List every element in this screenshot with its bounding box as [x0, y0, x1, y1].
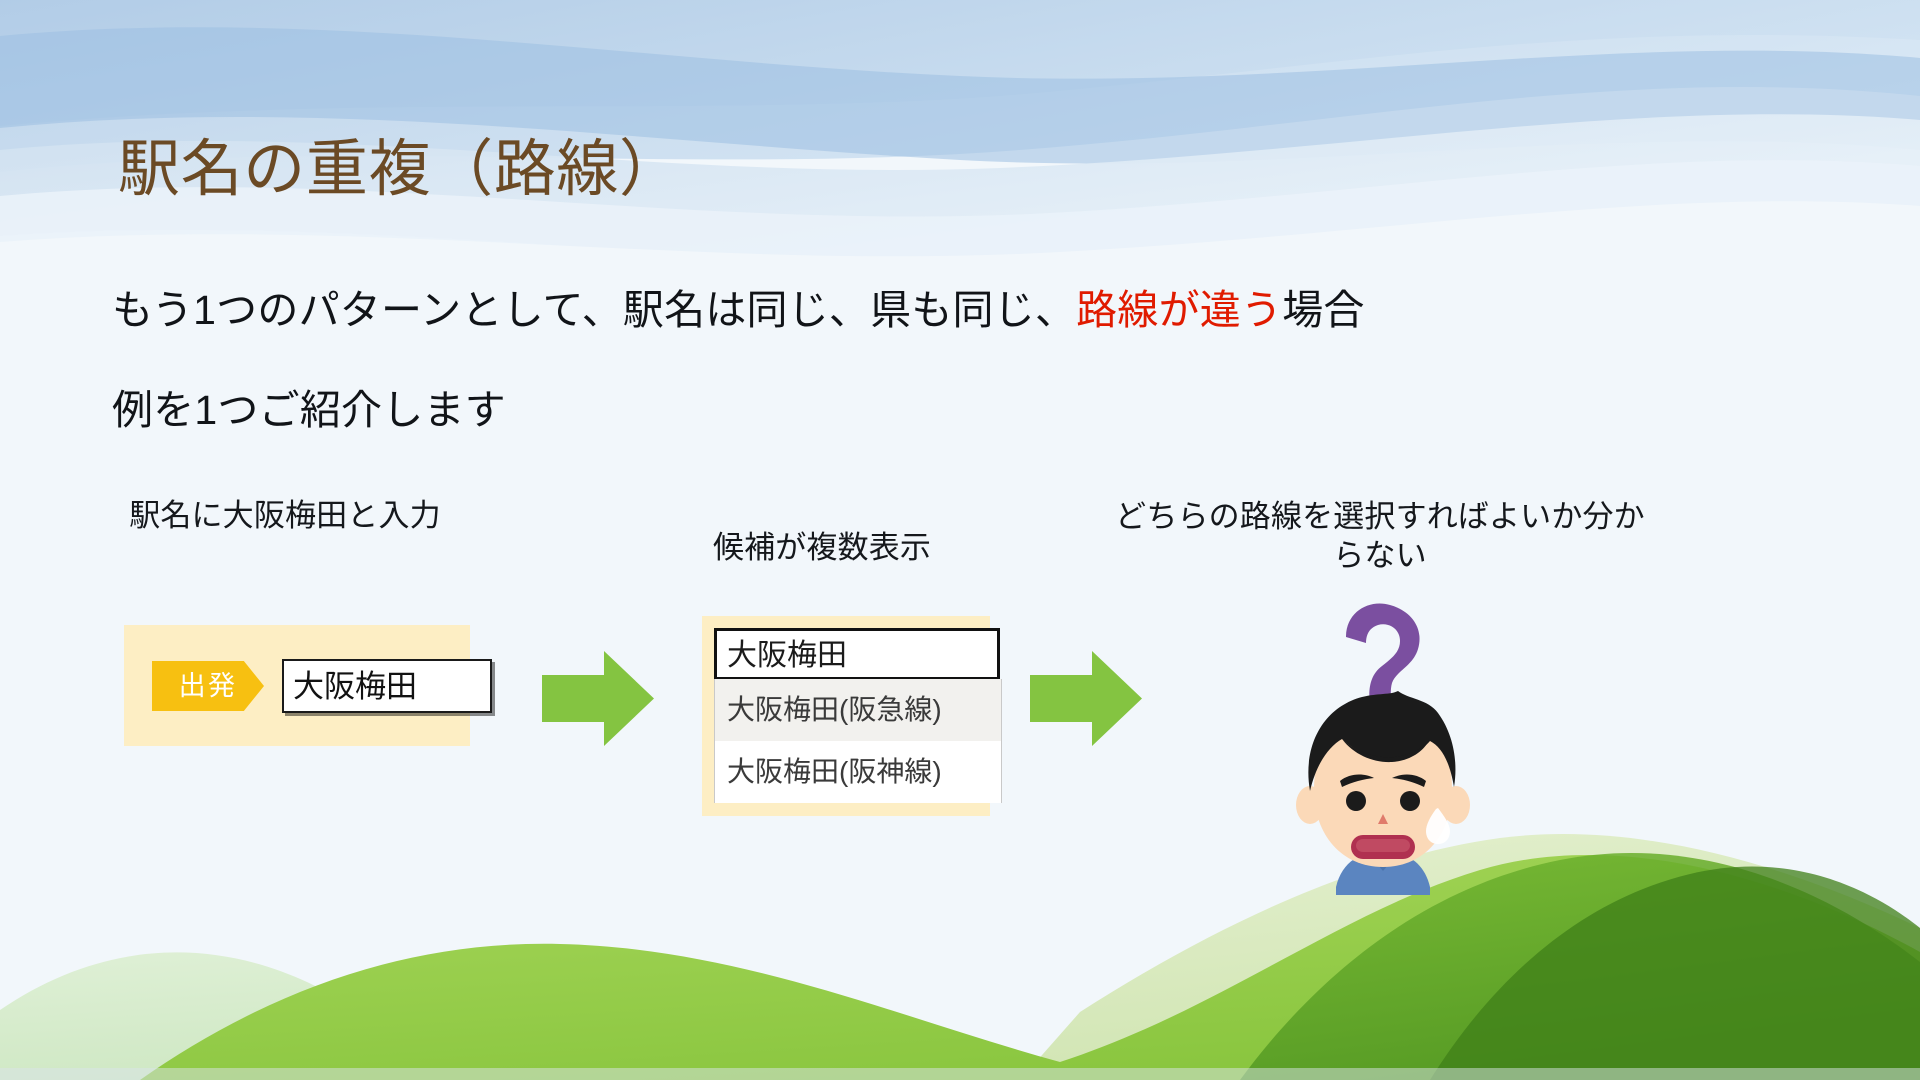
flow-step-2-screenshot: 大阪梅田 大阪梅田(阪急線) 大阪梅田(阪神線) [702, 616, 990, 816]
body-paragraph-1: もう1つのパターンとして、駅名は同じ、県も同じ、路線が違う場合 [112, 286, 1365, 335]
suggestion-search-field[interactable]: 大阪梅田 [714, 628, 1000, 680]
flow-diagram: 駅名に大阪梅田と入力 出発 大阪梅田 候補が複数表示 大阪梅田 大阪梅田(阪急線… [0, 485, 1920, 905]
suggestion-item[interactable]: 大阪梅田(阪急線) [715, 679, 1001, 741]
departure-station-input[interactable]: 大阪梅田 [282, 659, 492, 713]
departure-station-input-value: 大阪梅田 [293, 668, 417, 706]
flow-step-2-caption: 候補が複数表示 [652, 528, 992, 567]
suggestion-search-field-value: 大阪梅田 [727, 636, 847, 676]
slide-canvas: 駅名の重複（路線） もう1つのパターンとして、駅名は同じ、県も同じ、路線が違う場… [0, 0, 1920, 1080]
arrow-right-icon [1030, 651, 1142, 746]
suggestion-item[interactable]: 大阪梅田(阪神線) [715, 741, 1001, 803]
flow-step-1-screenshot: 出発 大阪梅田 [124, 625, 470, 746]
body-paragraph-1-part1: もう1つのパターンとして、駅名は同じ、県も同じ、 [112, 287, 1076, 333]
flow-step-1-caption: 駅名に大阪梅田と入力 [112, 496, 458, 535]
body-paragraph-1-part2: 場合 [1282, 287, 1364, 333]
arrow-right-icon [542, 651, 654, 746]
body-paragraph-2: 例を1つご紹介します [112, 386, 506, 435]
suggestion-list: 大阪梅田(阪急線) 大阪梅田(阪神線) [714, 679, 1002, 803]
confused-person-illustration [1258, 595, 1508, 895]
page-title: 駅名の重複（路線） [118, 135, 682, 204]
body-paragraph-1-highlight: 路線が違う [1076, 287, 1282, 333]
flow-step-3-caption: どちらの路線を選択すればよいか分からない [1100, 497, 1660, 575]
departure-badge: 出発 [152, 661, 264, 711]
